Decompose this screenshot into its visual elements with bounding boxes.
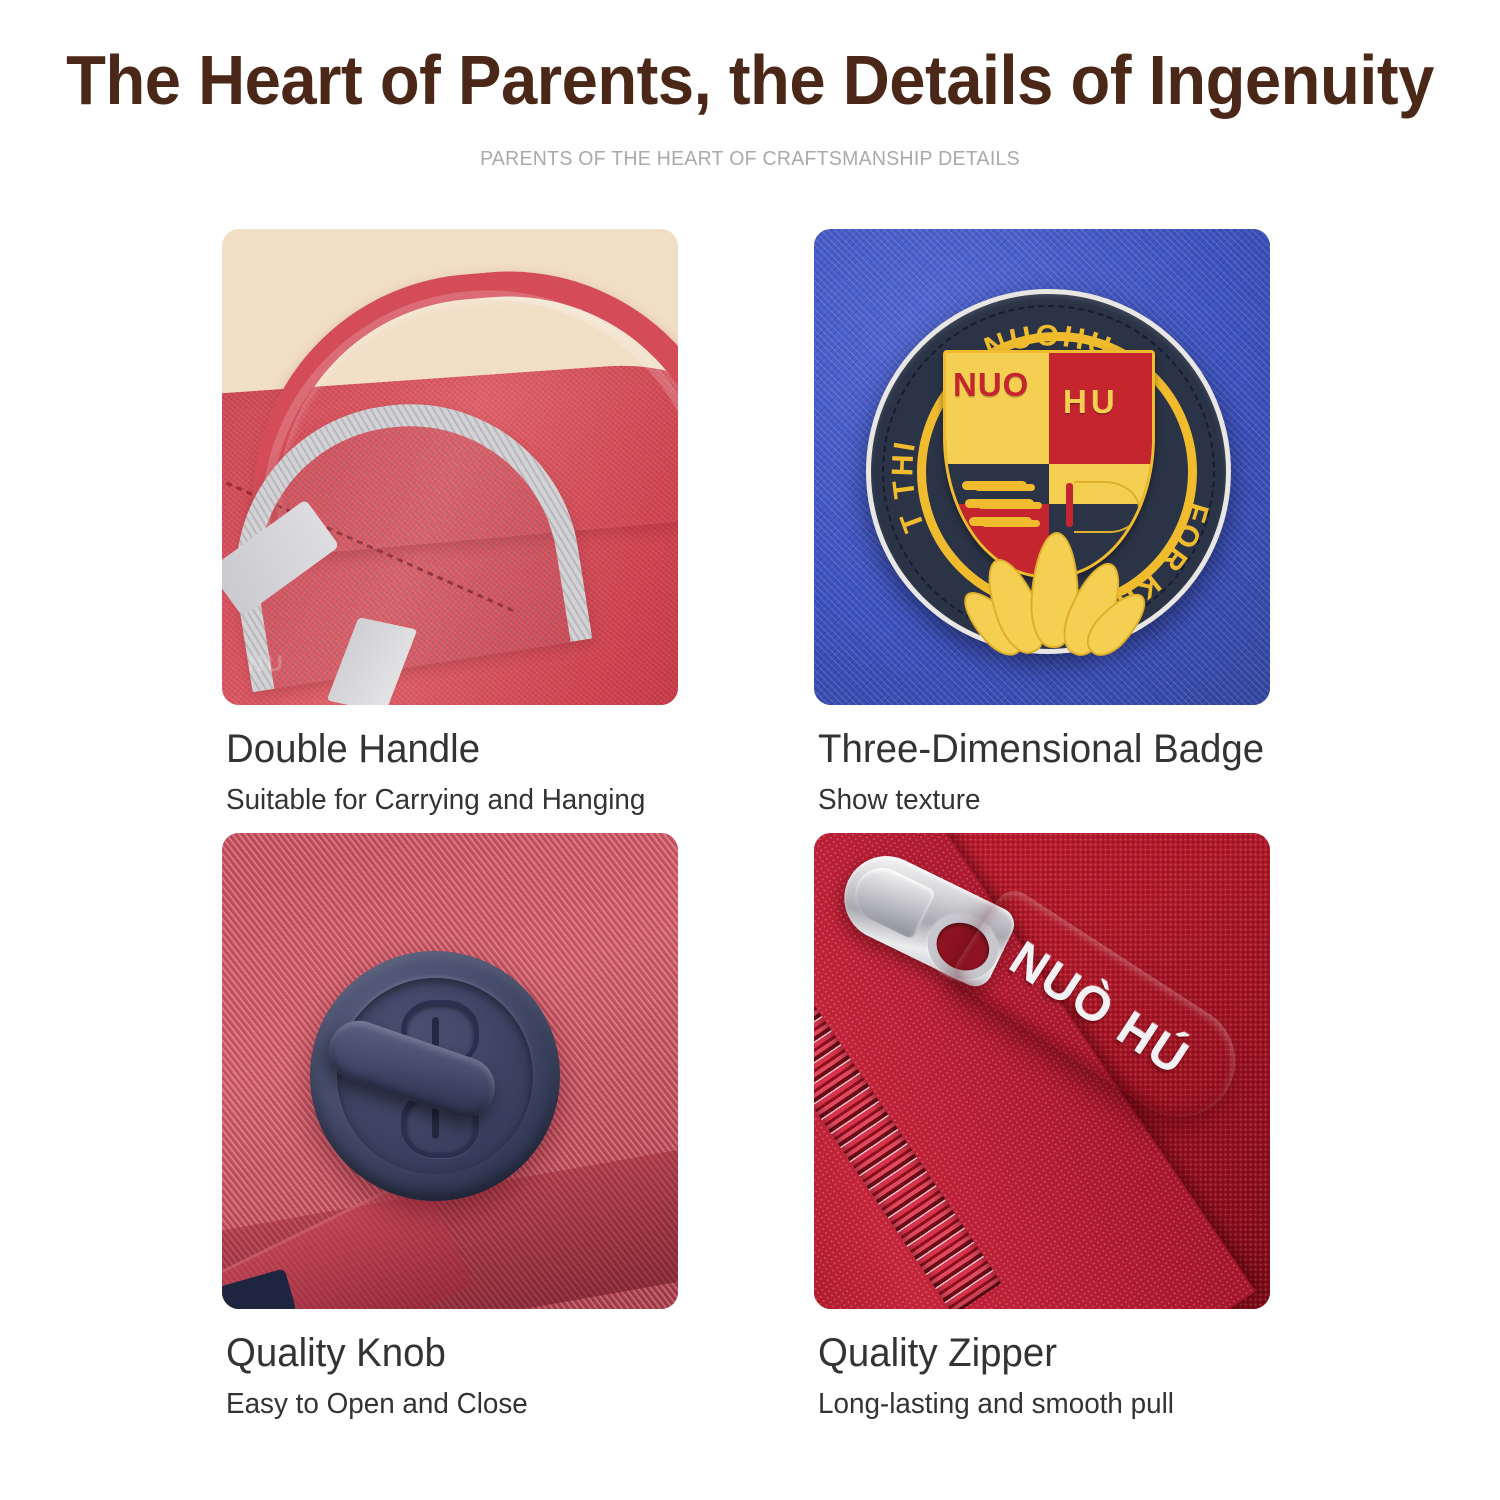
double-handle-caption: Double Handle Suitable for Carrying and … [222,705,678,815]
knob-photo[interactable] [222,833,678,1309]
page-title: The Heart of Parents, the Details of Ing… [53,44,1448,118]
feature-title: Quality Zipper [818,1333,1252,1373]
feature-description: Suitable for Carrying and Hanging [226,786,660,815]
twist-lock-knob [310,951,560,1201]
zipper-caption: Quality Zipper Long-lasting and smooth p… [814,1309,1270,1419]
shield-text-hu: HU [1063,383,1119,421]
page-subtitle: PARENTS OF THE HEART OF CRAFTSMANSHIP DE… [38,147,1463,171]
page-header: The Heart of Parents, the Details of Ing… [0,0,1500,171]
feature-description: Easy to Open and Close [226,1390,660,1419]
feature-description: Show texture [818,786,1252,815]
shuttlecock-icon [1064,479,1144,541]
feature-grid: NU Double Handle Suitable for Carrying a… [222,229,1266,1419]
badge-caption: Three-Dimensional Badge Show texture [814,705,1270,815]
wheat-leaves-icon [977,538,1127,658]
feature-card-quality-zipper[interactable]: NUÒ HÚ Quality Zipper Long-lasting and s… [814,833,1270,1419]
shuttlecock-stem [1066,483,1073,527]
double-handle-photo[interactable]: NU [222,229,678,705]
feature-title: Double Handle [226,729,660,769]
shield-text-nuo: NUO [953,366,1029,404]
knob-caption: Quality Knob Easy to Open and Close [222,1309,678,1419]
feature-card-three-dimensional-badge[interactable]: NUOHU BEST THINGS FOR KIDS. [814,229,1270,815]
crest-badge: NUOHU BEST THINGS FOR KIDS. [866,289,1231,654]
feature-card-quality-knob[interactable]: Quality Knob Easy to Open and Close [222,833,678,1419]
zipper-photo[interactable]: NUÒ HÚ [814,833,1270,1309]
shuttlecock-feather [1074,481,1140,533]
feature-title: Quality Knob [226,1333,660,1373]
feature-card-double-handle[interactable]: NU Double Handle Suitable for Carrying a… [222,229,678,815]
badge-shield: NUO HU [943,350,1155,578]
embossed-logo: NU [248,651,286,677]
feature-description: Long-lasting and smooth pull [818,1390,1252,1419]
feature-title: Three-Dimensional Badge [818,729,1252,769]
badge-photo[interactable]: NUOHU BEST THINGS FOR KIDS. [814,229,1270,705]
